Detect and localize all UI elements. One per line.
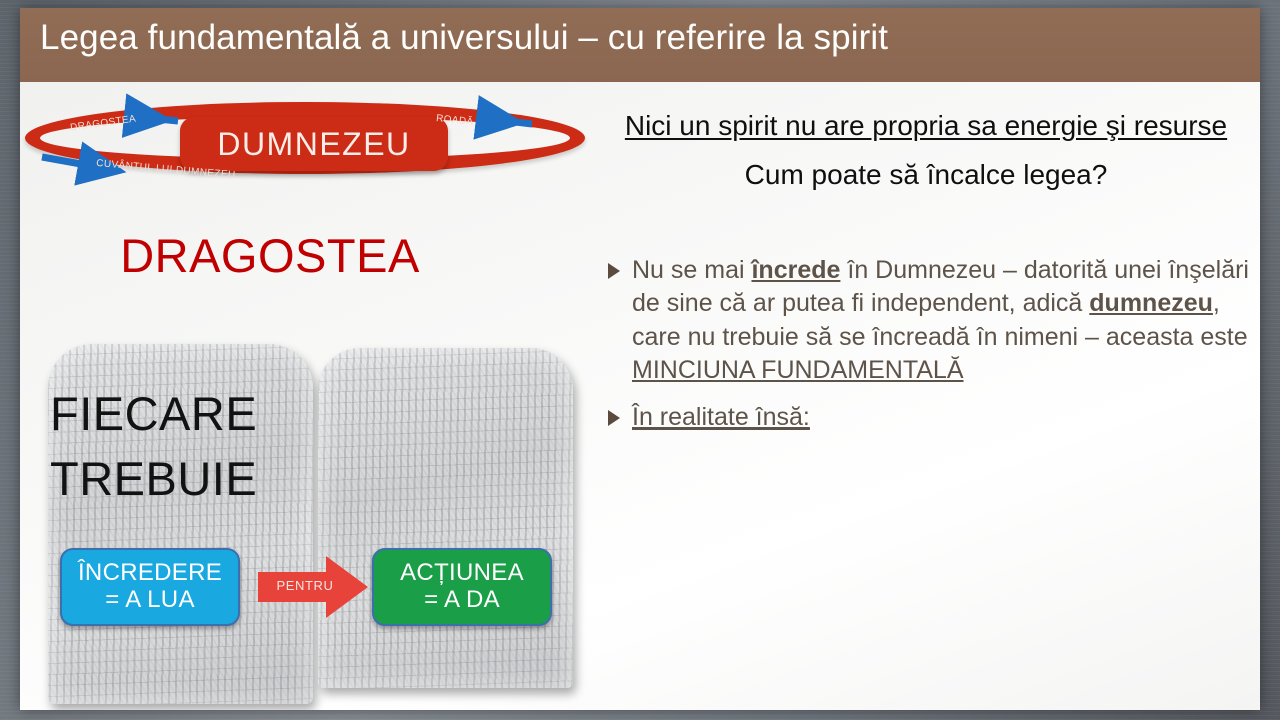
tablet-text-line-1: FIECARE <box>50 382 257 447</box>
bullet-text-2: În realitate însă: <box>632 401 1260 434</box>
left-content-column: DUMNEZEU DRAGOSTEA ROADĂ <box>20 82 590 710</box>
god-orbit-diagram: DUMNEZEU DRAGOSTEA ROADĂ <box>20 84 590 194</box>
action-box-line-2: = A DA <box>424 587 500 614</box>
action-box[interactable]: ACȚIUNEA = A DA <box>372 548 552 626</box>
trust-box[interactable]: ÎNCREDERE = A LUA <box>60 548 240 626</box>
triangle-bullet-icon <box>608 410 620 426</box>
trust-box-line-2: = A LUA <box>105 587 195 614</box>
tablet-text-line-2: TREBUIE <box>50 447 257 512</box>
action-box-line-1: ACȚIUNEA <box>400 560 524 587</box>
page-title: Legea fundamentală a universului – cu re… <box>40 18 888 58</box>
stone-tablets-group: FIECARE TREBUIE <box>30 272 590 710</box>
stone-tablet-right <box>318 348 573 688</box>
pentru-arrow-label: PENTRU <box>272 578 338 593</box>
bullet-text-1: Nu se mai încrede în Dumnezeu – datorită… <box>632 254 1260 387</box>
right-content-column: Nici un spirit nu are propria sa energie… <box>596 82 1260 710</box>
right-heading-2: Cum poate să încalce legea? <box>596 159 1256 191</box>
triangle-bullet-icon <box>608 263 620 279</box>
god-center-label: DUMNEZEU <box>217 126 410 163</box>
slide-canvas: Legea fundamentală a universului – cu re… <box>20 8 1260 710</box>
god-center-box: DUMNEZEU <box>180 117 448 171</box>
trust-box-line-1: ÎNCREDERE <box>78 560 222 587</box>
right-heading-1: Nici un spirit nu are propria sa energie… <box>596 110 1256 142</box>
bullet-list: Nu se mai încrede în Dumnezeu – datorită… <box>604 254 1260 434</box>
tablet-text: FIECARE TREBUIE <box>50 382 257 512</box>
list-item: Nu se mai încrede în Dumnezeu – datorită… <box>604 254 1260 387</box>
pentru-arrow: PENTRU <box>258 554 370 620</box>
slide-title-bar: Legea fundamentală a universului – cu re… <box>20 8 1260 82</box>
list-item: În realitate însă: <box>604 401 1260 434</box>
